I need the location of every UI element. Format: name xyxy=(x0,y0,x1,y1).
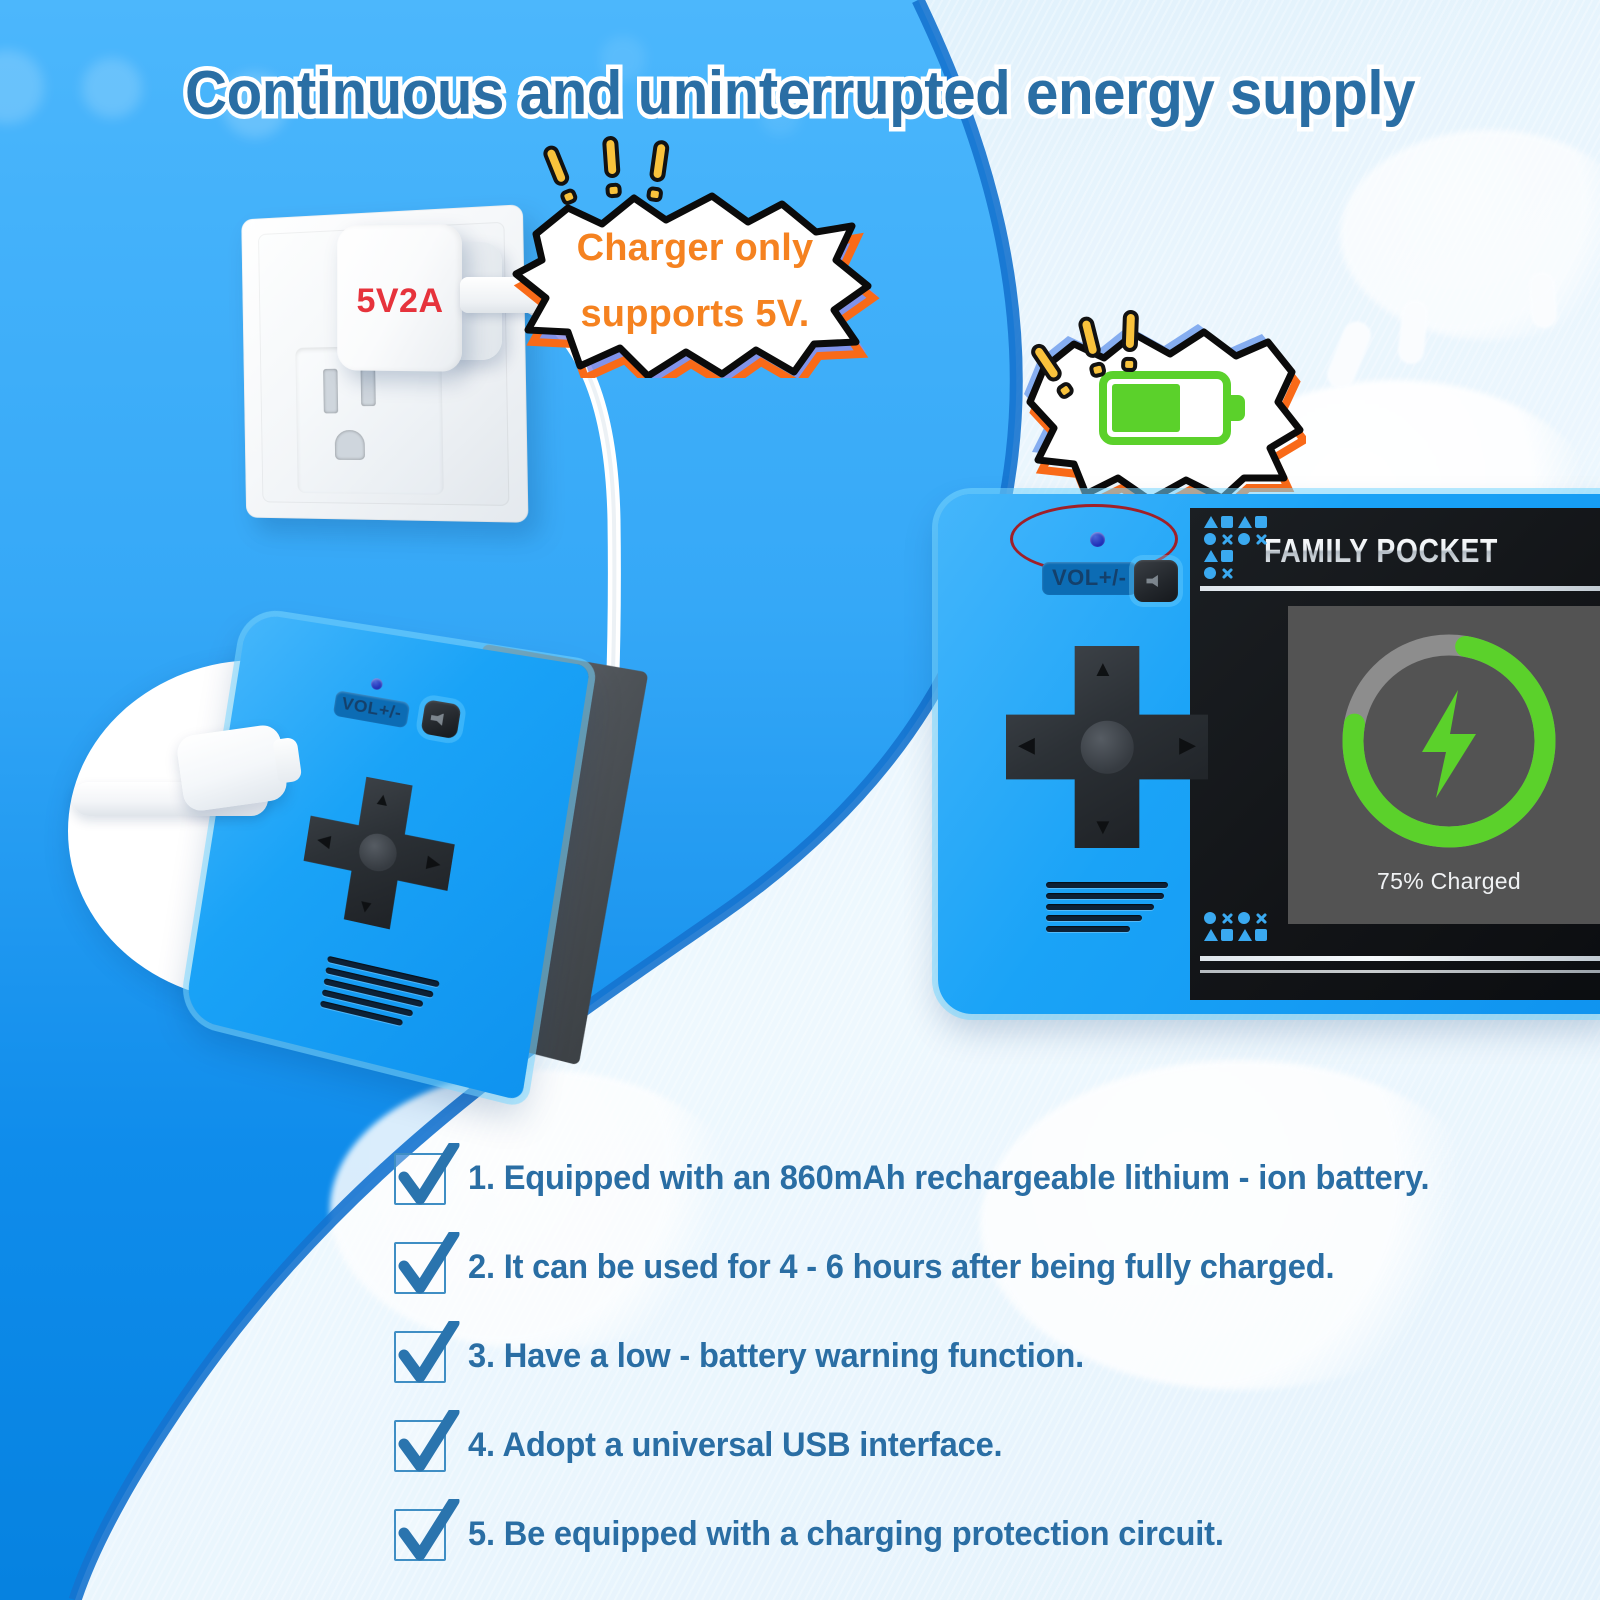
checkbox-checked-icon[interactable] xyxy=(394,1509,446,1561)
bezel-strip-top xyxy=(1200,586,1600,591)
checkbox-checked-icon[interactable] xyxy=(394,1420,446,1472)
list-item: 1. Equipped with an 860mAh rechargeable … xyxy=(394,1138,1524,1219)
dpad[interactable]: ▲ ▼ ◀ ▶ xyxy=(1006,646,1208,848)
bezel-glyphs-top xyxy=(1204,516,1235,581)
dpad-left-arrow: ◀ xyxy=(1018,734,1035,756)
checkbox-checked-icon[interactable] xyxy=(394,1242,446,1294)
feature-checklist: 1. Equipped with an 860mAh rechargeable … xyxy=(394,1138,1524,1583)
charger-power-label: 5V2A xyxy=(330,282,470,321)
battery-status-bubble xyxy=(1024,312,1306,504)
burst-shape xyxy=(1024,312,1306,504)
console-main: FAMILY POCKET xyxy=(938,494,1600,1014)
checkbox-checked-icon[interactable] xyxy=(394,1331,446,1383)
volume-label[interactable]: VOL+/- xyxy=(1042,562,1137,595)
dpad-down-arrow: ▼ xyxy=(1092,816,1114,838)
checkbox-checked-icon[interactable] xyxy=(394,1153,446,1205)
charge-status-text: 75% Charged xyxy=(1288,868,1600,895)
bezel-glyphs-bottom xyxy=(1204,912,1269,943)
dpad-right-arrow: ▶ xyxy=(1179,734,1196,756)
list-item-label: 4. Adopt a universal USB interface. xyxy=(468,1426,1002,1465)
dpad-up-arrow: ▲ xyxy=(373,789,393,810)
list-item-label: 3. Have a low - battery warning function… xyxy=(468,1337,1084,1376)
list-item: 4. Adopt a universal USB interface. xyxy=(394,1405,1524,1486)
socket-slot-right xyxy=(361,368,376,406)
bezel-strip-bottom-2 xyxy=(1200,970,1600,973)
mute-button[interactable] xyxy=(1134,560,1178,602)
infographic-canvas: Continuous and uninterrupted energy supp… xyxy=(0,0,1600,1600)
list-item: 3. Have a low - battery warning function… xyxy=(394,1316,1524,1397)
list-item-label: 5. Be equipped with a charging protectio… xyxy=(468,1515,1224,1554)
list-item-label: 1. Equipped with an 860mAh rechargeable … xyxy=(468,1159,1429,1198)
burst-shape xyxy=(510,178,880,378)
bezel-glyphs-top-2 xyxy=(1238,516,1269,547)
console-lcd: 75% Charged xyxy=(1288,606,1600,924)
charging-led-icon xyxy=(1090,532,1105,547)
charge-progress-ring xyxy=(1336,628,1562,854)
dpad-down-arrow: ▼ xyxy=(356,896,376,917)
list-item-label: 2. It can be used for 4 - 6 hours after … xyxy=(468,1248,1334,1287)
console-closeup-left: VOL+/- ▲ ▼ ◀ ▶ xyxy=(184,612,590,1101)
dpad-left[interactable]: ▲ ▼ ◀ ▶ xyxy=(296,768,463,941)
mute-button-left[interactable] xyxy=(420,699,461,739)
dpad-left-arrow: ◀ xyxy=(316,830,332,850)
usb-plug-inset xyxy=(175,723,289,813)
charger-warning-bubble: Charger only supports 5V. xyxy=(510,178,880,378)
list-item: 5. Be equipped with a charging protectio… xyxy=(394,1494,1524,1575)
socket-ground-hole xyxy=(335,430,365,460)
speaker-grille xyxy=(1046,882,1168,932)
console-brand-label: FAMILY POCKET xyxy=(1264,532,1498,570)
list-item: 2. It can be used for 4 - 6 hours after … xyxy=(394,1227,1524,1308)
socket-slot-left xyxy=(323,369,338,414)
bezel-strip-bottom xyxy=(1200,956,1600,961)
exclamation-icon xyxy=(1121,310,1139,373)
dpad-up-arrow: ▲ xyxy=(1092,658,1114,680)
dpad-right-arrow: ▶ xyxy=(426,852,443,872)
